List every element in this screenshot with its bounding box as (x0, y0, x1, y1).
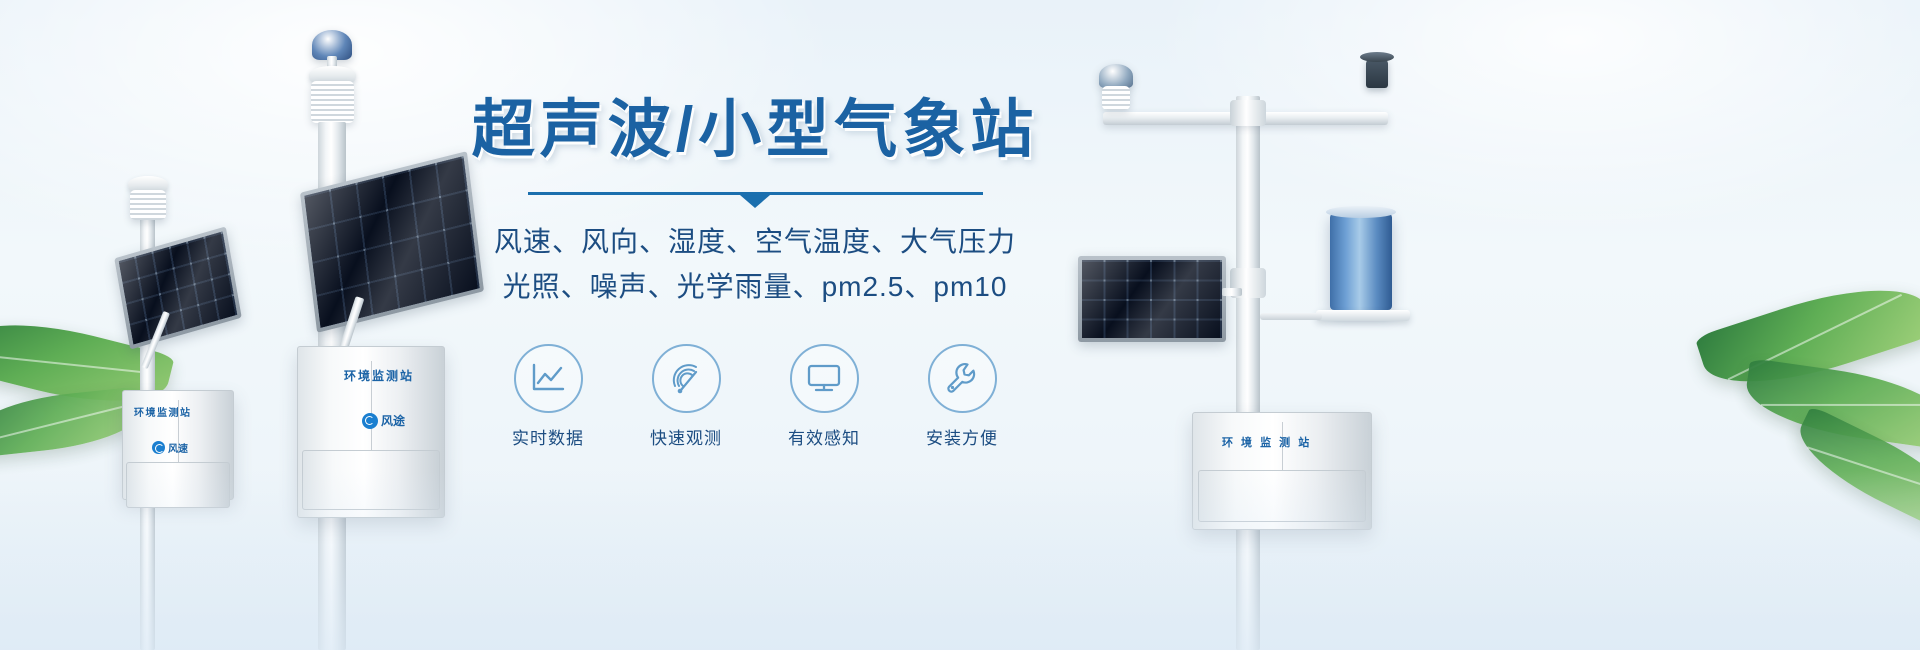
feature-label: 实时数据 (512, 424, 584, 449)
feature-item-realtime-data[interactable]: 实时数据 (503, 344, 593, 449)
feature-icon-circle (652, 344, 721, 413)
ultrasonic-anemometer-right (1099, 64, 1133, 88)
enclosure-label-right: 环 境 监 测 站 (1222, 434, 1312, 450)
leaf-vein (0, 354, 153, 374)
lower-enclosure-panel (126, 462, 230, 508)
line-chart-icon (531, 363, 565, 393)
solar-panel (114, 226, 242, 349)
rain-gauge-cylinder (1330, 212, 1392, 310)
feature-label: 快速观测 (650, 424, 722, 449)
enclosure-label-left-small: 环境监测站 (134, 404, 192, 419)
rain-gauge-bracket (1260, 313, 1322, 320)
radiation-shield-large (311, 81, 354, 123)
mast-coupler-upper (1230, 100, 1266, 126)
optical-rain-sensor-cap (1360, 52, 1394, 62)
leaf-vein (1761, 404, 1920, 406)
right-station-mast (1236, 96, 1260, 650)
brand-logo-icon (152, 441, 165, 454)
feature-item-easy-installation[interactable]: 安装方便 (917, 344, 1007, 449)
wrench-icon (945, 361, 979, 395)
feature-label: 安装方便 (926, 424, 998, 449)
feature-item-effective-sensing[interactable]: 有效感知 (779, 344, 869, 449)
banner-content: 超声波/小型气象站 风速、风向、湿度、空气温度、大气压力 光照、噪声、光学雨量、… (455, 96, 1055, 449)
lower-enclosure-panel-large (302, 450, 440, 510)
brand-logo-icon-large (362, 413, 378, 429)
feature-label: 有效感知 (788, 424, 860, 449)
radiation-shield (130, 190, 166, 220)
lower-enclosure-panel-right (1198, 470, 1366, 522)
monitor-icon (806, 363, 842, 393)
brand-tag-left-large: 风途 (362, 412, 405, 429)
feature-icon-circle (514, 344, 583, 413)
solar-panel-cells (119, 232, 237, 345)
rain-gauge-shelf (1316, 310, 1410, 321)
brand-name-large: 风途 (381, 412, 405, 429)
banner-headline: 超声波/小型气象站 (455, 96, 1055, 164)
feature-list: 实时数据 快速观测 (455, 344, 1055, 449)
divider-caret-icon (740, 195, 770, 208)
brand-name: 风速 (168, 440, 188, 455)
banner-subtitle: 风速、风向、湿度、空气温度、大气压力 光照、噪声、光学雨量、pm2.5、pm10 (455, 219, 1055, 310)
product-banner: 环境监测站 风速 环境监测站 风途 (0, 0, 1920, 650)
feature-icon-circle (928, 344, 997, 413)
leaf-vein (0, 404, 129, 441)
subtitle-line-1: 风速、风向、湿度、空气温度、大气压力 (455, 219, 1055, 264)
brand-tag-left-small: 风速 (152, 440, 188, 455)
leaf-vein (1808, 447, 1920, 495)
radiation-shield-right (1102, 86, 1130, 110)
feature-icon-circle (790, 344, 859, 413)
headline-divider (528, 192, 983, 195)
optical-rain-sensor (1366, 58, 1388, 88)
solar-panel-right-arm (1222, 288, 1242, 296)
solar-panel-right (1078, 256, 1226, 342)
enclosure-label-left-large: 环境监测站 (344, 367, 414, 384)
radar-signal-icon (669, 362, 703, 394)
solar-panel-cells-right (1082, 260, 1222, 338)
subtitle-line-2: 光照、噪声、光学雨量、pm2.5、pm10 (455, 264, 1055, 309)
feature-item-fast-observation[interactable]: 快速观测 (641, 344, 731, 449)
bottom-fade (0, 470, 1920, 650)
